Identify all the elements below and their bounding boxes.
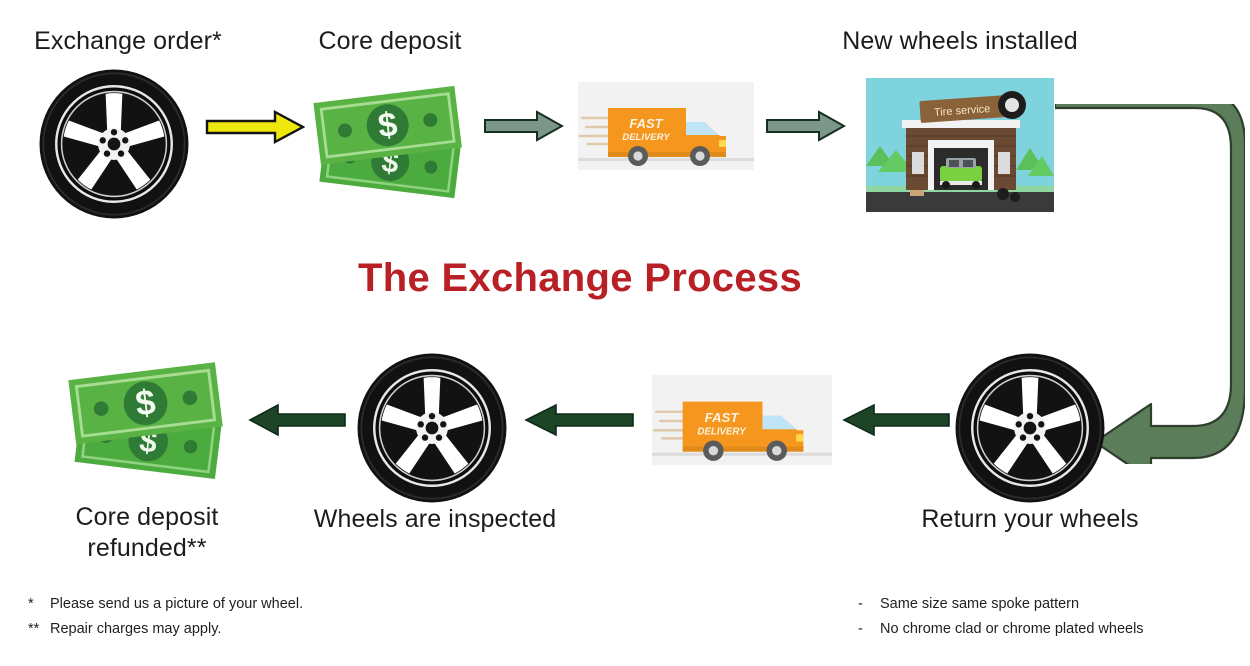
step-label-core-deposit: Core deposit <box>290 26 490 57</box>
note-right-1-text: Same size same spoke pattern <box>880 596 1079 612</box>
note-right-2-text: No chrome clad or chrome plated wheels <box>880 621 1144 637</box>
wheel-icon-wheels-inspected <box>356 352 508 504</box>
arrow-truck-to-garage <box>766 110 846 142</box>
delivery-truck-icon-shipping-out: FAST DELIVERY <box>578 82 754 170</box>
exchange-process-diagram: Exchange order* <box>0 0 1250 666</box>
arrow-truck-to-inspected <box>524 403 634 437</box>
svg-text:DELIVERY: DELIVERY <box>697 426 747 437</box>
note-left-2-text: Repair charges may apply. <box>50 621 221 637</box>
money-icon-core-deposit: $ $ <box>305 76 475 201</box>
arrow-order-to-deposit <box>205 110 305 144</box>
step-label-core-deposit-refunded: Core deposit refunded** <box>32 502 262 563</box>
note-left-1-text: Please send us a picture of your wheel. <box>50 596 303 612</box>
svg-text:FAST: FAST <box>705 410 741 425</box>
note-left-2: **Repair charges may apply. <box>28 617 303 642</box>
step-label-wheels-inspected: Wheels are inspected <box>300 504 570 535</box>
money-icon-deposit-refunded: $ $ <box>58 352 238 482</box>
arrow-deposit-to-truck <box>484 110 564 142</box>
step-label-new-wheels-installed: New wheels installed <box>800 26 1120 57</box>
arrow-inspected-to-refund <box>248 403 346 437</box>
page-title: The Exchange Process <box>0 256 1160 301</box>
step-label-exchange-order: Exchange order* <box>18 26 238 57</box>
note-left-2-mark: ** <box>28 617 50 642</box>
note-left-1: *Please send us a picture of your wheel. <box>28 592 303 617</box>
step-label-return-your-wheels: Return your wheels <box>895 504 1165 535</box>
note-right-1-mark: - <box>858 592 880 617</box>
note-right-2-mark: - <box>858 617 880 642</box>
svg-text:DELIVERY: DELIVERY <box>622 132 671 143</box>
notes-right: -Same size same spoke pattern -No chrome… <box>858 592 1144 641</box>
arrow-return-to-truck <box>842 403 950 437</box>
wheel-icon-return-your-wheels <box>954 352 1106 504</box>
note-right-1: -Same size same spoke pattern <box>858 592 1144 617</box>
wheel-icon-exchange-order <box>38 68 190 220</box>
note-left-1-mark: * <box>28 592 50 617</box>
note-right-2: -No chrome clad or chrome plated wheels <box>858 617 1144 642</box>
delivery-truck-icon-shipping-back: FAST DELIVERY <box>652 372 832 468</box>
svg-text:FAST: FAST <box>629 116 663 131</box>
tire-service-garage-icon: Tire service <box>866 78 1054 212</box>
notes-left: *Please send us a picture of your wheel.… <box>28 592 303 641</box>
